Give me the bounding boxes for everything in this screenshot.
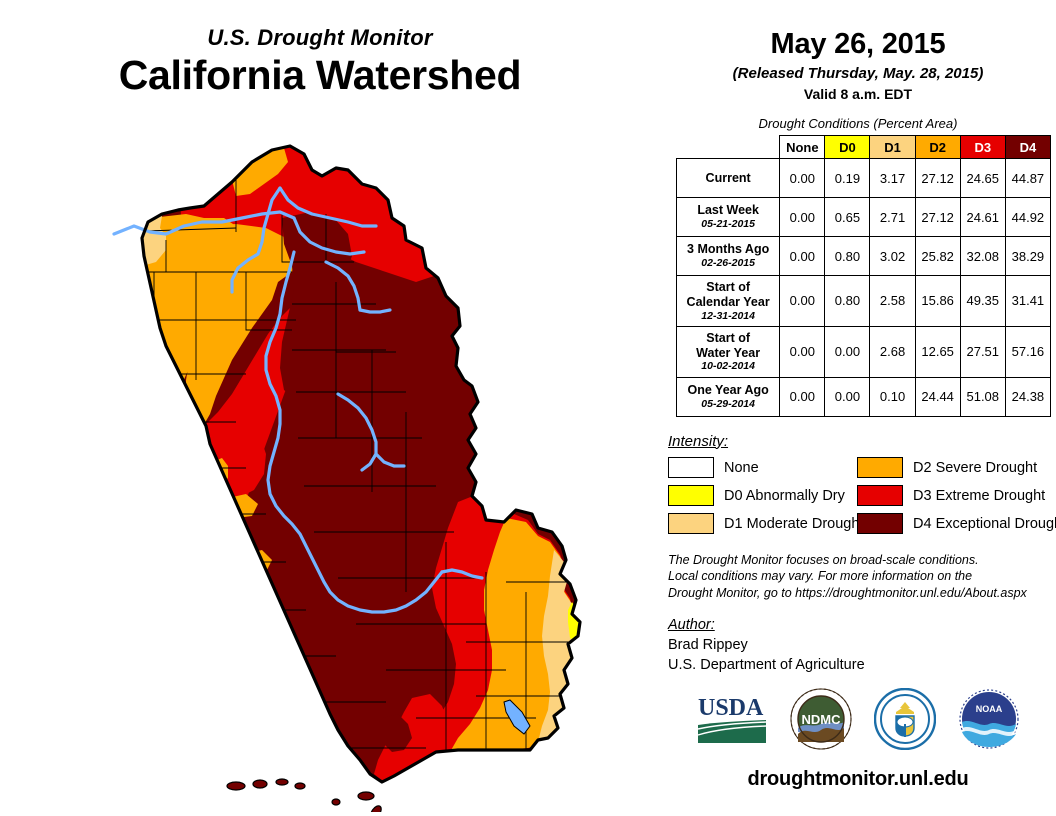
map-container[interactable]	[86, 122, 606, 812]
legend-swatch-d2	[857, 457, 903, 478]
legend-swatch-none	[668, 457, 714, 478]
legend-title: Intensity:	[668, 433, 1046, 450]
row-label-text: One Year Ago	[687, 383, 768, 397]
row-label-text: 3 Months Ago	[687, 242, 769, 256]
col-header-d4: D4	[1005, 136, 1050, 159]
noaa-logo-text: NOAA	[976, 704, 1003, 714]
table-caption: Drought Conditions (Percent Area)	[660, 116, 1056, 131]
cell-none: 0.00	[780, 377, 825, 416]
report-header: May 26, 2015 (Released Thursday, May. 28…	[660, 28, 1056, 102]
report-valid: Valid 8 a.m. EDT	[660, 86, 1056, 102]
col-header-none: None	[780, 136, 825, 159]
row-label-start-of-calendar-year: Start of Calendar Year 12-31-2014	[677, 276, 780, 327]
table-corner-cell	[677, 136, 780, 159]
usdc-seal-logo[interactable]	[874, 688, 936, 755]
table-row: One Year Ago 05-29-2014 0.00 0.00 0.10 2…	[677, 377, 1051, 416]
legend-label-d1: D1 Moderate Drought	[724, 516, 863, 532]
author-name: Brad Rippey	[668, 636, 1056, 656]
cell-none: 0.00	[780, 326, 825, 377]
cell-d1: 2.58	[870, 276, 915, 327]
cell-d4: 38.29	[1005, 237, 1050, 276]
cell-d2: 24.44	[915, 377, 960, 416]
disclaimer-note: The Drought Monitor focuses on broad-sca…	[668, 552, 1048, 602]
cell-d2: 15.86	[915, 276, 960, 327]
legend-swatch-d3	[857, 485, 903, 506]
legend-label-d2: D2 Severe Drought	[913, 460, 1037, 476]
cell-d0: 0.80	[825, 237, 870, 276]
row-label-text: Start of Water Year	[696, 331, 760, 360]
cell-d4: 31.41	[1005, 276, 1050, 327]
title-block: U.S. Drought Monitor California Watershe…	[0, 26, 640, 98]
table-row: Current 0.00 0.19 3.17 27.12 24.65 44.87	[677, 159, 1051, 198]
ndmc-logo-text: NDMC	[802, 712, 842, 727]
row-label-date: 12-31-2014	[679, 310, 777, 322]
cell-d1: 0.10	[870, 377, 915, 416]
cell-d1: 3.17	[870, 159, 915, 198]
cell-d4: 44.87	[1005, 159, 1050, 198]
cell-none: 0.00	[780, 159, 825, 198]
map-islands	[227, 779, 383, 812]
legend-item-none: None	[668, 456, 857, 480]
row-label-start-of-water-year: Start of Water Year 10-02-2014	[677, 326, 780, 377]
col-header-d0: D0	[825, 136, 870, 159]
col-header-d1: D1	[870, 136, 915, 159]
cell-d0: 0.19	[825, 159, 870, 198]
legend-column-right: D2 Severe Drought D3 Extreme Drought D4 …	[857, 456, 1046, 540]
legend-column-left: None D0 Abnormally Dry D1 Moderate Droug…	[668, 456, 857, 540]
cell-d3: 27.51	[960, 326, 1005, 377]
author-block: Author: Brad Rippey U.S. Department of A…	[668, 617, 1056, 675]
legend-label-none: None	[724, 460, 759, 476]
left-panel: U.S. Drought Monitor California Watershe…	[0, 0, 660, 816]
table-row: Start of Calendar Year 12-31-2014 0.00 0…	[677, 276, 1051, 327]
author-title: Author:	[668, 617, 1056, 633]
legend-label-d4: D4 Exceptional Drought	[913, 516, 1056, 532]
row-label-date: 05-29-2014	[679, 398, 777, 410]
usda-logo-text: USDA	[698, 695, 764, 721]
col-header-d2: D2	[915, 136, 960, 159]
legend-item-d4: D4 Exceptional Drought	[857, 512, 1046, 536]
legend-item-d0: D0 Abnormally Dry	[668, 484, 857, 508]
table-body: Current 0.00 0.19 3.17 27.12 24.65 44.87…	[677, 159, 1051, 417]
legend-item-d3: D3 Extreme Drought	[857, 484, 1046, 508]
report-date: May 26, 2015	[660, 28, 1056, 61]
cell-d3: 49.35	[960, 276, 1005, 327]
legend-swatch-d1	[668, 513, 714, 534]
cell-d1: 2.71	[870, 198, 915, 237]
cell-d3: 32.08	[960, 237, 1005, 276]
intensity-legend: Intensity: None D0 Abnormally Dry D1 Mod…	[668, 433, 1046, 540]
cell-d0: 0.65	[825, 198, 870, 237]
author-org: U.S. Department of Agriculture	[668, 656, 1056, 676]
table-header-row: None D0 D1 D2 D3 D4	[677, 136, 1051, 159]
disclaimer-line-3: Drought Monitor, go to https://droughtmo…	[668, 585, 1048, 602]
drought-map-svg[interactable]	[86, 122, 606, 812]
cell-d4: 44.92	[1005, 198, 1050, 237]
cell-d1: 2.68	[870, 326, 915, 377]
cell-d4: 57.16	[1005, 326, 1050, 377]
cell-d3: 51.08	[960, 377, 1005, 416]
row-label-one-year-ago: One Year Ago 05-29-2014	[677, 377, 780, 416]
row-label-text: Last Week	[697, 203, 759, 217]
row-label-text: Current	[706, 171, 751, 185]
row-label-date: 10-02-2014	[679, 360, 777, 372]
legend-swatch-d4	[857, 513, 903, 534]
usda-logo[interactable]: USDA	[696, 691, 768, 752]
logo-row: USDA NDMC	[660, 688, 1056, 755]
legend-item-d2: D2 Severe Drought	[857, 456, 1046, 480]
drought-monitor-page: U.S. Drought Monitor California Watershe…	[0, 0, 1056, 816]
page-subtitle: U.S. Drought Monitor	[0, 26, 640, 50]
ndmc-logo[interactable]: NDMC	[790, 688, 852, 755]
cell-d0: 0.00	[825, 377, 870, 416]
row-label-date: 02-26-2015	[679, 257, 777, 269]
website-url[interactable]: droughtmonitor.unl.edu	[660, 768, 1056, 791]
cell-d2: 27.12	[915, 198, 960, 237]
report-released: (Released Thursday, May. 28, 2015)	[660, 65, 1056, 82]
right-panel: May 26, 2015 (Released Thursday, May. 28…	[660, 0, 1056, 816]
table-row: Last Week 05-21-2015 0.00 0.65 2.71 27.1…	[677, 198, 1051, 237]
page-title: California Watershed	[0, 53, 640, 98]
drought-conditions-table: None D0 D1 D2 D3 D4 Current 0.00 0.1	[676, 135, 1051, 417]
table-row: 3 Months Ago 02-26-2015 0.00 0.80 3.02 2…	[677, 237, 1051, 276]
legend-label-d0: D0 Abnormally Dry	[724, 488, 845, 504]
cell-none: 0.00	[780, 198, 825, 237]
row-label-current: Current	[677, 159, 780, 198]
cell-d0: 0.00	[825, 326, 870, 377]
row-label-3-months-ago: 3 Months Ago 02-26-2015	[677, 237, 780, 276]
row-label-date: 05-21-2015	[679, 218, 777, 230]
noaa-logo[interactable]: NOAA	[958, 688, 1020, 755]
legend-label-d3: D3 Extreme Drought	[913, 488, 1045, 504]
disclaimer-line-1: The Drought Monitor focuses on broad-sca…	[668, 552, 1048, 569]
cell-d2: 27.12	[915, 159, 960, 198]
row-label-text: Start of Calendar Year	[687, 280, 770, 309]
cell-d2: 25.82	[915, 237, 960, 276]
col-header-d3: D3	[960, 136, 1005, 159]
cell-d0: 0.80	[825, 276, 870, 327]
cell-d2: 12.65	[915, 326, 960, 377]
cell-none: 0.00	[780, 276, 825, 327]
row-label-last-week: Last Week 05-21-2015	[677, 198, 780, 237]
cell-d3: 24.65	[960, 159, 1005, 198]
legend-swatch-d0	[668, 485, 714, 506]
cell-d3: 24.61	[960, 198, 1005, 237]
table-row: Start of Water Year 10-02-2014 0.00 0.00…	[677, 326, 1051, 377]
disclaimer-line-2: Local conditions may vary. For more info…	[668, 568, 1048, 585]
legend-item-d1: D1 Moderate Drought	[668, 512, 857, 536]
cell-none: 0.00	[780, 237, 825, 276]
cell-d1: 3.02	[870, 237, 915, 276]
cell-d4: 24.38	[1005, 377, 1050, 416]
